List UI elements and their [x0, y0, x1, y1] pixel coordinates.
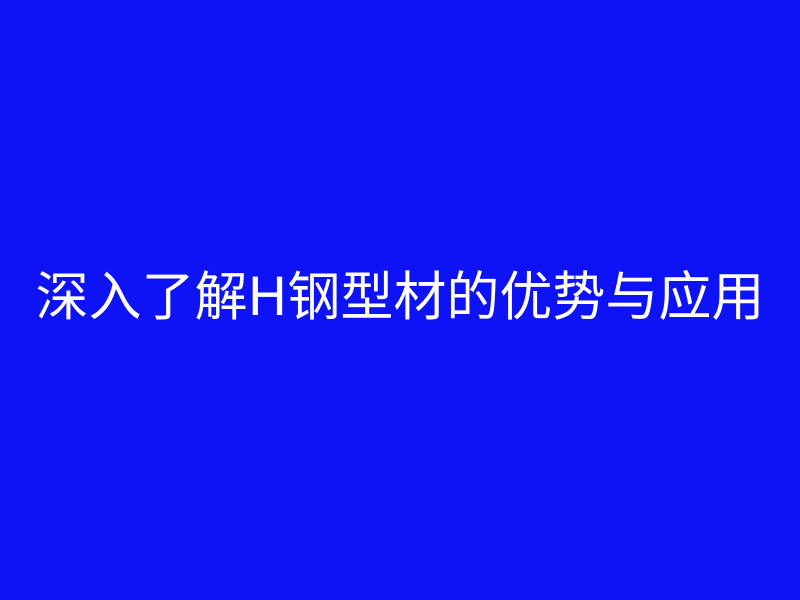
page-title: 深入了解H钢型材的优势与应用 — [0, 271, 800, 324]
slide-canvas: 深入了解H钢型材的优势与应用 — [0, 0, 800, 600]
headline-container: 深入了解H钢型材的优势与应用 — [0, 0, 800, 600]
